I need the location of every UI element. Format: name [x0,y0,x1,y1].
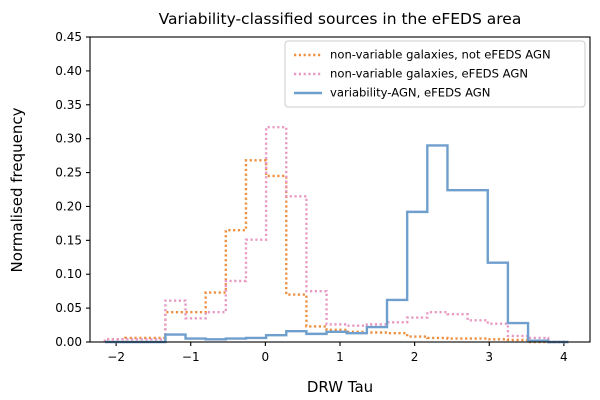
x-tick-label: 0 [262,350,270,364]
x-tick-label: 1 [336,350,344,364]
x-tick-label: −2 [107,350,125,364]
x-tick-label: 4 [560,350,568,364]
x-tick-label: 3 [485,350,493,364]
legend-label-1: non-variable galaxies, eFEDS AGN [330,67,528,81]
x-tick-label: 2 [411,350,419,364]
y-axis-label: Normalised frequency [8,107,26,272]
y-tick-label: 0.20 [55,199,82,213]
y-tick-label: 0.45 [55,30,82,44]
y-tick-label: 0.15 [55,233,82,247]
x-axis-label: DRW Tau [307,378,373,396]
chart-legend[interactable]: non-variable galaxies, not eFEDS AGNnon-… [285,41,585,107]
y-tick-label: 0.00 [55,335,82,349]
chart-title: Variability-classified sources in the eF… [159,10,522,28]
histogram-plot: Variability-classified sources in the eF… [0,0,600,400]
y-tick-label: 0.10 [55,267,82,281]
y-tick-label: 0.05 [55,301,82,315]
legend-label-0: non-variable galaxies, not eFEDS AGN [330,48,551,62]
legend-label-2: variability-AGN, eFEDS AGN [330,86,490,100]
chart-figure: Variability-classified sources in the eF… [0,0,600,400]
y-tick-label: 0.40 [55,64,82,78]
y-tick-label: 0.25 [55,166,82,180]
y-tick-label: 0.30 [55,132,82,146]
x-tick-label: −1 [182,350,200,364]
y-tick-label: 0.35 [55,98,82,112]
